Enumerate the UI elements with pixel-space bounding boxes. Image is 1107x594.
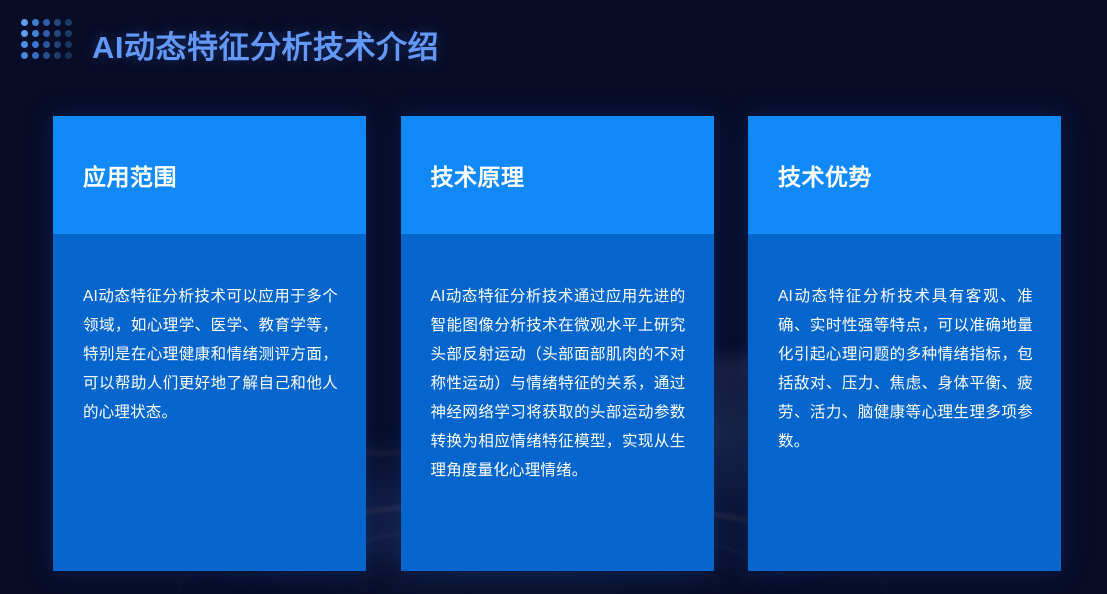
card-title: 技术优势 (778, 158, 872, 192)
card-body-text: AI动态特征分析技术具有客观、准确、实时性强等特点，可以准确地量化引起心理问题的… (778, 282, 1033, 456)
card-body: AI动态特征分析技术可以应用于多个领域，如心理学、医学、教育学等，特别是在心理健… (53, 234, 366, 571)
slide-header: AI动态特征分析技术介绍 (0, 0, 1107, 92)
card-header: 应用范围 (53, 116, 366, 234)
presentation-slide: AI动态特征分析技术介绍 应用范围 AI动态特征分析技术可以应用于多个领域，如心… (0, 0, 1107, 594)
dot-icon (54, 52, 61, 59)
dot-grid-icon (21, 19, 76, 63)
page-title: AI动态特征分析技术介绍 (92, 22, 439, 67)
card-title: 技术原理 (431, 158, 525, 192)
card-technical-principle[interactable]: 技术原理 AI动态特征分析技术通过应用先进的智能图像分析技术在微观水平上研究头部… (401, 116, 714, 571)
dot-icon (54, 19, 61, 26)
dot-icon (54, 41, 61, 48)
dot-icon (65, 19, 72, 26)
dot-icon (21, 19, 28, 26)
dot-icon (21, 30, 28, 37)
card-body: AI动态特征分析技术具有客观、准确、实时性强等特点，可以准确地量化引起心理问题的… (748, 234, 1061, 571)
dot-icon (65, 41, 72, 48)
card-body: AI动态特征分析技术通过应用先进的智能图像分析技术在微观水平上研究头部反射运动（… (401, 234, 714, 571)
card-header: 技术原理 (401, 116, 714, 234)
dot-icon (43, 19, 50, 26)
card-technical-advantage[interactable]: 技术优势 AI动态特征分析技术具有客观、准确、实时性强等特点，可以准确地量化引起… (748, 116, 1061, 571)
card-list: 应用范围 AI动态特征分析技术可以应用于多个领域，如心理学、医学、教育学等，特别… (53, 116, 1061, 571)
dot-icon (21, 41, 28, 48)
card-header: 技术优势 (748, 116, 1061, 234)
dot-icon (43, 30, 50, 37)
card-title: 应用范围 (83, 158, 177, 192)
dot-icon (21, 52, 28, 59)
dot-icon (32, 30, 39, 37)
dot-icon (43, 41, 50, 48)
dot-icon (65, 30, 72, 37)
dot-icon (32, 41, 39, 48)
card-body-text: AI动态特征分析技术通过应用先进的智能图像分析技术在微观水平上研究头部反射运动（… (431, 282, 686, 485)
dot-icon (54, 30, 61, 37)
dot-icon (43, 52, 50, 59)
card-body-text: AI动态特征分析技术可以应用于多个领域，如心理学、医学、教育学等，特别是在心理健… (83, 282, 338, 427)
dot-icon (32, 52, 39, 59)
dot-icon (65, 52, 72, 59)
dot-icon (32, 19, 39, 26)
card-application-scope[interactable]: 应用范围 AI动态特征分析技术可以应用于多个领域，如心理学、医学、教育学等，特别… (53, 116, 366, 571)
